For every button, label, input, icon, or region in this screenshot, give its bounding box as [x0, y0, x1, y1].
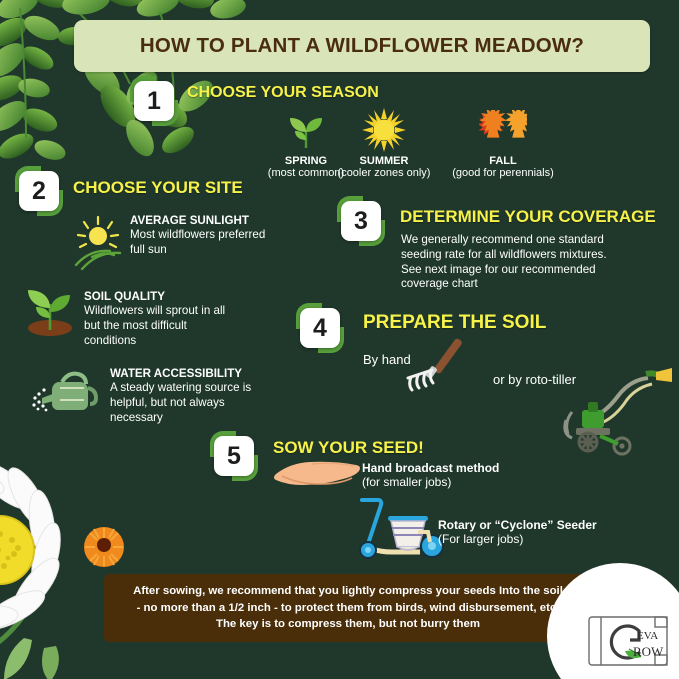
- sow-method-hand: Hand broadcast method (for smaller jobs): [362, 461, 562, 491]
- step-badge-4: 4: [297, 305, 343, 351]
- step-badge-2: 2: [16, 168, 62, 214]
- step-number: 3: [354, 209, 368, 234]
- footer-note-box: After sowing, we recommend that you ligh…: [104, 574, 592, 642]
- item-body: Wildflowers will sprout in all but the m…: [84, 303, 314, 348]
- season-note: (cooler zones only): [324, 167, 444, 179]
- season-name: FALL: [443, 155, 563, 167]
- step-heading-5: SOW YOUR SEED!: [273, 438, 424, 458]
- method-title: Hand broadcast method: [362, 461, 562, 475]
- badge-plate: 5: [214, 436, 254, 476]
- item-title: WATER ACCESSIBILITY: [110, 367, 330, 380]
- site-item-water: WATER ACCESSIBILITY A steady watering so…: [110, 367, 330, 425]
- season-fall: FALL (good for perennials): [443, 108, 563, 179]
- item-body: A steady watering source is helpful, but…: [110, 380, 330, 425]
- item-title: AVERAGE SUNLIGHT: [130, 214, 340, 227]
- logo-text-bottom: ROW: [633, 644, 664, 659]
- sun-over-field-icon: [70, 215, 130, 271]
- step-3-body: We generally recommend one standard seed…: [401, 233, 673, 292]
- logo-text-top: EVA: [637, 630, 658, 642]
- eva-grow-logo: EVA ROW: [587, 611, 673, 671]
- sprout-in-soil-icon: [20, 278, 80, 336]
- step-heading-3: DETERMINE YOUR COVERAGE: [400, 207, 656, 227]
- step-badge-1: 1: [131, 78, 177, 124]
- infographic-canvas: HOW TO PLANT A WILDFLOWER MEADOW? 1 CHOO…: [0, 0, 679, 679]
- page-title: HOW TO PLANT A WILDFLOWER MEADOW?: [140, 34, 584, 58]
- sun-icon: [324, 108, 444, 152]
- calendula-flower-decoration: [83, 526, 125, 568]
- footer-note-text: After sowing, we recommend that you ligh…: [123, 583, 573, 633]
- step-heading-1: CHOOSE YOUR SEASON: [187, 84, 379, 102]
- badge-plate: 3: [341, 201, 381, 241]
- step-number: 1: [147, 89, 161, 114]
- badge-plate: 1: [134, 81, 174, 121]
- step-badge-5: 5: [211, 433, 257, 479]
- sow-method-rotary: Rotary or “Cyclone” Seeder (For larger j…: [438, 518, 648, 548]
- daisy-flower-decoration: [0, 462, 166, 679]
- step-number: 2: [32, 179, 46, 204]
- item-title: SOIL QUALITY: [84, 290, 314, 303]
- step-number: 4: [313, 316, 327, 341]
- step-badge-3: 3: [338, 198, 384, 244]
- season-note: (good for perennials): [443, 167, 563, 179]
- open-hand-icon: [272, 458, 360, 492]
- site-item-soil: SOIL QUALITY Wildflowers will sprout in …: [84, 290, 314, 348]
- step-heading-4: PREPARE THE SOIL: [363, 312, 546, 334]
- watering-can-icon: [32, 368, 100, 418]
- page-title-bar: HOW TO PLANT A WILDFLOWER MEADOW?: [74, 20, 650, 72]
- item-body: Most wildflowers preferred full sun: [130, 227, 340, 257]
- season-name: SUMMER: [324, 155, 444, 167]
- badge-plate: 4: [300, 308, 340, 348]
- method-note: (For larger jobs): [438, 532, 648, 548]
- badge-plate: 2: [19, 171, 59, 211]
- step-number: 5: [227, 444, 241, 469]
- maple-leaves-icon: [443, 108, 563, 152]
- roto-tiller-icon: [548, 362, 674, 460]
- season-summer: SUMMER (cooler zones only): [324, 108, 444, 179]
- rake-icon: [398, 334, 478, 406]
- method-title: Rotary or “Cyclone” Seeder: [438, 518, 648, 532]
- step-heading-2: CHOOSE YOUR SITE: [73, 178, 243, 198]
- site-item-sunlight: AVERAGE SUNLIGHT Most wildflowers prefer…: [130, 214, 340, 257]
- method-note: (for smaller jobs): [362, 475, 562, 491]
